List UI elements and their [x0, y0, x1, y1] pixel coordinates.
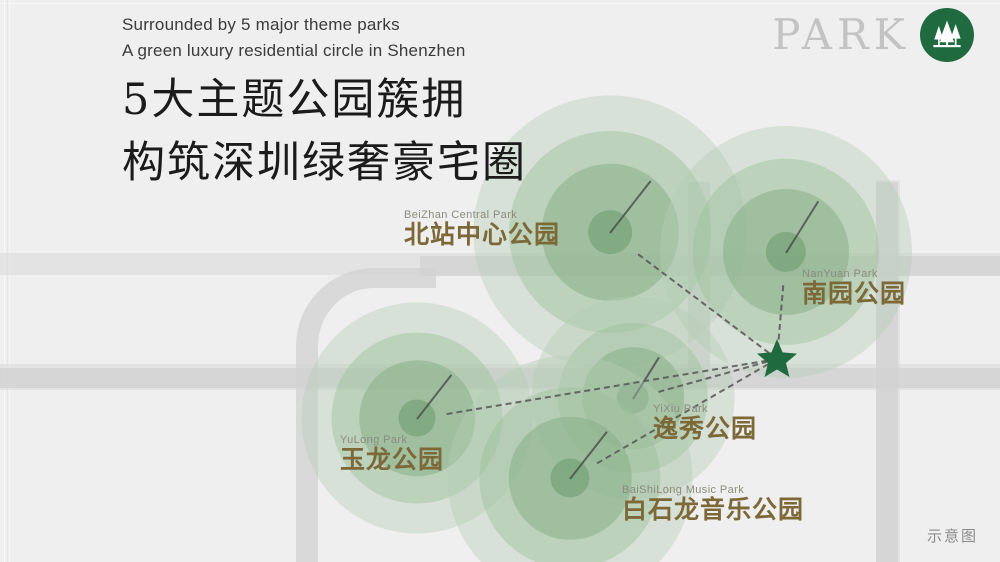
headline-block: Surrounded by 5 major theme parks A gree… [122, 12, 527, 191]
park-label[interactable]: YiXiu Park逸秀公园 [653, 403, 757, 444]
park-label-cn: 玉龙公园 [340, 446, 444, 475]
park-label-cn: 南园公园 [802, 280, 906, 309]
park-label[interactable]: BeiZhan Central Park北站中心公园 [404, 209, 560, 250]
page-title-line-2: 构筑深圳绿奢豪宅圈 [122, 136, 527, 191]
slide-canvas: BeiZhan Central Park北站中心公园NanYuan Park南园… [0, 0, 1000, 562]
star-marker-icon[interactable] [755, 336, 799, 380]
park-label[interactable]: YuLong Park玉龙公园 [340, 434, 444, 475]
park-label-cn: 白石龙音乐公园 [622, 496, 804, 525]
park-label[interactable]: BaiShiLong Music Park白石龙音乐公园 [622, 484, 804, 525]
subtitle-line-1: Surrounded by 5 major theme parks [122, 12, 527, 38]
pine-trees-icon [920, 8, 974, 62]
brand-logo: PARK [772, 8, 974, 62]
park-label-cn: 逸秀公园 [653, 415, 757, 444]
disclaimer-note: 示意图 [927, 525, 978, 546]
subtitle-line-2: A green luxury residential circle in She… [122, 38, 527, 64]
brand-wordmark: PARK [772, 14, 910, 56]
park-label[interactable]: NanYuan Park南园公园 [802, 268, 906, 309]
park-label-cn: 北站中心公园 [404, 221, 560, 250]
page-title-line-1: 5大主题公园簇拥 [122, 73, 527, 128]
park-blob[interactable] [448, 356, 693, 562]
